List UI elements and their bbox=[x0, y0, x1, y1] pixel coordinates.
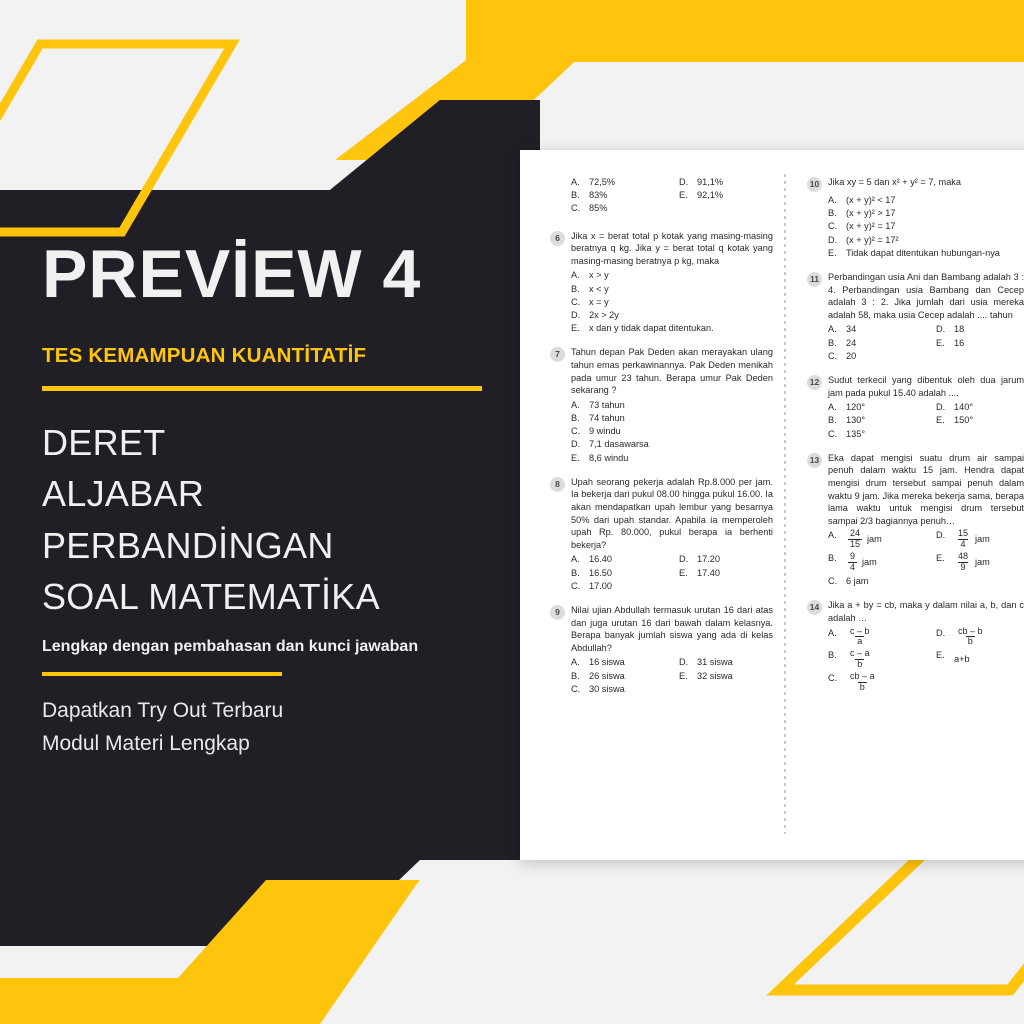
option: C.(x + y)² = 17 bbox=[828, 220, 1024, 233]
option-letter: A. bbox=[571, 399, 583, 412]
option-text: cb – ab bbox=[846, 672, 879, 692]
document-right-column: 10Jika xy = 5 dan x² + y² = 7, makaA.(x … bbox=[787, 176, 1024, 860]
option: A.2415jam bbox=[828, 529, 936, 549]
option-letter: D. bbox=[571, 309, 583, 322]
question-number-badge: 11 bbox=[807, 272, 822, 287]
fraction-numerator: 9 bbox=[848, 552, 857, 561]
option-text: 85% bbox=[589, 202, 607, 215]
option-text: 150° bbox=[954, 414, 973, 427]
option-label: 17.00 bbox=[589, 580, 612, 593]
option-unit: jam bbox=[975, 533, 990, 546]
option-unit: jam bbox=[867, 533, 882, 546]
option-row: C.cb – ab bbox=[828, 672, 1024, 692]
options-list: A.(x + y)² < 17B.(x + y)² > 17C.(x + y)²… bbox=[807, 194, 1024, 260]
fraction-numerator: c – b bbox=[848, 627, 872, 636]
option-text: 489jam bbox=[954, 552, 990, 572]
option: B.c – ab bbox=[828, 649, 936, 669]
yellow-band-bottom-left-2 bbox=[0, 882, 418, 1024]
option-text: 17.00 bbox=[589, 580, 612, 593]
question: 6Jika x = berat total p kotak yang masin… bbox=[550, 230, 773, 336]
options-list: A.120°D.140°B.130°E.150°C.135° bbox=[807, 401, 1024, 441]
option-text: 30 siswa bbox=[589, 683, 625, 696]
option-letter: E. bbox=[571, 452, 583, 465]
option bbox=[936, 428, 1024, 441]
option: E.32 siswa bbox=[679, 670, 773, 683]
option: C.30 siswa bbox=[571, 683, 679, 696]
option-label: 16.40 bbox=[589, 553, 612, 566]
options-list: A.c – baD.cb – bbB.c – abE.a+bC.cb – ab bbox=[807, 627, 1024, 693]
question: 9Nilai ujian Abdullah termasuk urutan 16… bbox=[550, 604, 773, 696]
option-text: c – ab bbox=[846, 649, 874, 669]
option-letter: E. bbox=[571, 322, 583, 335]
option-letter: B. bbox=[571, 412, 583, 425]
option-text: a+b bbox=[954, 649, 970, 669]
options-list: A.16 siswaD.31 siswaB.26 siswaE.32 siswa… bbox=[550, 656, 773, 696]
fraction-denominator: 9 bbox=[958, 562, 967, 572]
option-letter bbox=[936, 428, 948, 441]
question-number-badge: 6 bbox=[550, 231, 565, 246]
option-unit: jam bbox=[975, 556, 990, 569]
question-text: Tahun depan Pak Deden akan merayakan ula… bbox=[571, 346, 773, 396]
question-header: 12Sudut terkecil yang dibentuk oleh dua … bbox=[807, 374, 1024, 399]
option-row: D.(x + y)² = 17² bbox=[828, 234, 1024, 247]
page-title: PREVİEW 4 bbox=[42, 240, 512, 308]
yellow-band-top-right-2 bbox=[466, 0, 1024, 100]
option-label: x = y bbox=[589, 296, 609, 309]
yellow-outline-parallelogram-top-left bbox=[0, 44, 232, 232]
option-letter: A. bbox=[828, 323, 840, 336]
option: D.7,1 dasawarsa bbox=[571, 438, 773, 451]
option-text: Tidak dapat ditentukan hubungan-nya bbox=[846, 247, 1000, 260]
option-letter: C. bbox=[828, 220, 840, 233]
option: C.135° bbox=[828, 428, 936, 441]
option-label: x dan y tidak dapat ditentukan. bbox=[589, 322, 714, 335]
fraction: 2415 bbox=[848, 529, 862, 549]
fraction: c – ab bbox=[848, 649, 872, 669]
option-label: 31 siswa bbox=[697, 656, 733, 669]
option-row: B.(x + y)² > 17 bbox=[828, 207, 1024, 220]
question-header: 13Eka dapat mengisi suatu drum air sampa… bbox=[807, 452, 1024, 528]
option: E.489jam bbox=[936, 552, 1024, 572]
option-text: 7,1 dasawarsa bbox=[589, 438, 649, 451]
option-label: 8,6 windu bbox=[589, 452, 628, 465]
option: D.2x > 2y bbox=[571, 309, 773, 322]
fraction-numerator: 15 bbox=[956, 529, 970, 538]
option: A.73 tahun bbox=[571, 399, 773, 412]
options-list: A.x > yB.x < yC.x = yD.2x > 2yE.x dan y … bbox=[550, 269, 773, 335]
option-letter: A. bbox=[571, 176, 583, 189]
option: C.cb – ab bbox=[828, 672, 1024, 692]
option-text: 17.40 bbox=[697, 567, 720, 580]
option-label: 140° bbox=[954, 401, 973, 414]
option-label: 34 bbox=[846, 323, 856, 336]
option-letter: B. bbox=[571, 670, 583, 683]
option: B.x < y bbox=[571, 283, 773, 296]
option-text: 83% bbox=[589, 189, 607, 202]
option-label: x > y bbox=[589, 269, 609, 282]
topic-item: DERET bbox=[42, 417, 512, 468]
question-header: 8Upah seorang pekerja adalah Rp.8.000 pe… bbox=[550, 476, 773, 552]
dark-wedge-top bbox=[330, 100, 540, 190]
question: 11Perbandingan usia Ani dan Bambang adal… bbox=[807, 271, 1024, 363]
fraction-numerator: c – a bbox=[848, 649, 872, 658]
fraction: cb – bb bbox=[956, 627, 985, 647]
option-label: 26 siswa bbox=[589, 670, 625, 683]
option-text: 72,5% bbox=[589, 176, 615, 189]
option-letter: D. bbox=[828, 234, 840, 247]
option-letter bbox=[679, 683, 691, 696]
option-letter: D. bbox=[936, 627, 948, 647]
option-letter: B. bbox=[828, 337, 840, 350]
option-text: 135° bbox=[846, 428, 865, 441]
option-label: 17.40 bbox=[697, 567, 720, 580]
option: D.140° bbox=[936, 401, 1024, 414]
options-list: A.2415jamD.154jamB.94jamE.489jamC.6 jam bbox=[807, 529, 1024, 588]
option-label: (x + y)² > 17 bbox=[846, 207, 896, 220]
option-text: 2x > 2y bbox=[589, 309, 619, 322]
question-text: Upah seorang pekerja adalah Rp.8.000 per… bbox=[571, 476, 773, 552]
option-letter bbox=[936, 350, 948, 363]
option-letter: C. bbox=[571, 683, 583, 696]
option: E.150° bbox=[936, 414, 1024, 427]
option-label: 9 windu bbox=[589, 425, 621, 438]
option-text: c – ba bbox=[846, 627, 874, 647]
option-text: 24 bbox=[846, 337, 856, 350]
option-letter: A. bbox=[571, 656, 583, 669]
option: A.(x + y)² < 17 bbox=[828, 194, 1024, 207]
question-number-badge: 12 bbox=[807, 375, 822, 390]
option-label: 16.50 bbox=[589, 567, 612, 580]
fraction-denominator: 15 bbox=[848, 539, 862, 549]
option-letter: D. bbox=[936, 323, 948, 336]
option-label: Tidak dapat ditentukan hubungan-nya bbox=[846, 247, 1000, 260]
question-header: 6Jika x = berat total p kotak yang masin… bbox=[550, 230, 773, 268]
option-row: C.135° bbox=[828, 428, 1024, 441]
option-label: (x + y)² < 17 bbox=[846, 194, 896, 207]
option: A.16 siswa bbox=[571, 656, 679, 669]
fraction-denominator: a bbox=[855, 636, 864, 646]
option-label: 73 tahun bbox=[589, 399, 625, 412]
fraction: c – ba bbox=[848, 627, 872, 647]
option-unit: 6 jam bbox=[846, 575, 868, 588]
question-text: Jika a + by = cb, maka y dalam nilai a, … bbox=[828, 599, 1024, 624]
option-row: B.c – abE.a+b bbox=[828, 649, 1024, 669]
option-letter: B. bbox=[571, 283, 583, 296]
fraction: 154 bbox=[956, 529, 970, 549]
option-row: B.26 siswaE.32 siswa bbox=[571, 670, 773, 683]
option-letter bbox=[679, 580, 691, 593]
option: A.16.40 bbox=[571, 553, 679, 566]
option-letter: B. bbox=[828, 414, 840, 427]
question: 8Upah seorang pekerja adalah Rp.8.000 pe… bbox=[550, 476, 773, 593]
poster-subtitle: TES KEMAMPUAN KUANTİTATİF bbox=[42, 344, 512, 368]
fraction-denominator: 4 bbox=[958, 539, 967, 549]
option-text: 73 tahun bbox=[589, 399, 625, 412]
option-letter: E. bbox=[828, 247, 840, 260]
question-text: Perbandingan usia Ani dan Bambang adalah… bbox=[828, 271, 1024, 321]
question: 7Tahun depan Pak Deden akan merayakan ul… bbox=[550, 346, 773, 464]
option-row: B.130°E.150° bbox=[828, 414, 1024, 427]
poster-tagline: Lengkap dengan pembahasan dan kunci jawa… bbox=[42, 635, 442, 658]
option: E.8,6 windu bbox=[571, 452, 773, 465]
option-row: A.2415jamD.154jam bbox=[828, 529, 1024, 549]
option-text: 26 siswa bbox=[589, 670, 625, 683]
options-list: A.34D.18B.24E.16C.20 bbox=[807, 323, 1024, 363]
option bbox=[936, 350, 1024, 363]
poster-text-block: PREVİEW 4 TES KEMAMPUAN KUANTİTATİF DERE… bbox=[42, 240, 512, 760]
question: 14Jika a + by = cb, maka y dalam nilai a… bbox=[807, 599, 1024, 692]
option-letter: A. bbox=[571, 269, 583, 282]
question-number-badge: 13 bbox=[807, 453, 822, 468]
question-text: Jika xy = 5 dan x² + y² = 7, maka bbox=[828, 176, 1024, 189]
question-number-badge: 10 bbox=[807, 177, 822, 192]
option bbox=[679, 683, 773, 696]
option-row: B.16.50E.17.40 bbox=[571, 567, 773, 580]
option-letter: B. bbox=[828, 207, 840, 220]
option-label: 130° bbox=[846, 414, 865, 427]
option-label: 150° bbox=[954, 414, 973, 427]
option-text: 74 tahun bbox=[589, 412, 625, 425]
option-text: cb – bb bbox=[954, 627, 987, 647]
option-letter: C. bbox=[828, 575, 840, 588]
option-letter: E. bbox=[679, 567, 691, 580]
option-row: C.x = y bbox=[571, 296, 773, 309]
option: A.120° bbox=[828, 401, 936, 414]
option-row: C.17.00 bbox=[571, 580, 773, 593]
option-letter: C. bbox=[828, 672, 840, 692]
option-letter: C. bbox=[571, 202, 583, 215]
option-label: 135° bbox=[846, 428, 865, 441]
fraction: 94 bbox=[848, 552, 857, 572]
option: B.94jam bbox=[828, 552, 936, 572]
option-row: C.85% bbox=[571, 202, 773, 215]
option-label: 16 siswa bbox=[589, 656, 625, 669]
question-header: 7Tahun depan Pak Deden akan merayakan ul… bbox=[550, 346, 773, 396]
fraction-denominator: b bbox=[858, 682, 867, 692]
option-label: 17.20 bbox=[697, 553, 720, 566]
option-letter: B. bbox=[571, 567, 583, 580]
question: 12Sudut terkecil yang dibentuk oleh dua … bbox=[807, 374, 1024, 441]
option-letter: B. bbox=[828, 649, 840, 669]
question-header: 14Jika a + by = cb, maka y dalam nilai a… bbox=[807, 599, 1024, 624]
option-row: A.34D.18 bbox=[828, 323, 1024, 336]
option-text: 140° bbox=[954, 401, 973, 414]
option-text: 8,6 windu bbox=[589, 452, 628, 465]
orphan-options-block: A.72,5% D.91,1% B.83% E.92,1% C.85% bbox=[550, 176, 773, 216]
option-row: B.83% E.92,1% bbox=[571, 189, 773, 202]
option-label: 20 bbox=[846, 350, 856, 363]
option-letter: B. bbox=[828, 552, 840, 572]
document-left-column: A.72,5% D.91,1% B.83% E.92,1% C.85% 6Jik… bbox=[550, 176, 787, 860]
option-row: E.8,6 windu bbox=[571, 452, 773, 465]
option-letter: D. bbox=[679, 553, 691, 566]
option-row: B.x < y bbox=[571, 283, 773, 296]
option-letter: A. bbox=[828, 194, 840, 207]
left-questions-container: 6Jika x = berat total p kotak yang masin… bbox=[550, 230, 773, 696]
option-row: B.74 tahun bbox=[571, 412, 773, 425]
option-row: A.120°D.140° bbox=[828, 401, 1024, 414]
option-text: 34 bbox=[846, 323, 856, 336]
fraction-numerator: 48 bbox=[956, 552, 970, 561]
option-letter: E. bbox=[936, 552, 948, 572]
option: E.92,1% bbox=[679, 189, 773, 202]
option-letter: C. bbox=[828, 428, 840, 441]
fraction-denominator: b bbox=[855, 659, 864, 669]
option: B.83% bbox=[571, 189, 679, 202]
option-text: 154jam bbox=[954, 529, 990, 549]
option-label: 18 bbox=[954, 323, 964, 336]
option-row: C.30 siswa bbox=[571, 683, 773, 696]
option-letter: E. bbox=[679, 189, 691, 202]
option: D.91,1% bbox=[679, 176, 773, 189]
option-label: 74 tahun bbox=[589, 412, 625, 425]
option: A.x > y bbox=[571, 269, 773, 282]
yellow-band-bottom-left bbox=[0, 880, 420, 1024]
option-letter: A. bbox=[571, 553, 583, 566]
question-number-badge: 9 bbox=[550, 605, 565, 620]
option-text: (x + y)² = 17² bbox=[846, 234, 899, 247]
option: C.9 windu bbox=[571, 425, 773, 438]
option: B.(x + y)² > 17 bbox=[828, 207, 1024, 220]
option: D.cb – bb bbox=[936, 627, 1024, 647]
fraction-numerator: 24 bbox=[848, 529, 862, 538]
option-text: 9 windu bbox=[589, 425, 621, 438]
option-label: 16 bbox=[954, 337, 964, 350]
option-letter: A. bbox=[828, 627, 840, 647]
option-letter: D. bbox=[936, 529, 948, 549]
option-label: 24 bbox=[846, 337, 856, 350]
option: A.34 bbox=[828, 323, 936, 336]
option-label: (x + y)² = 17² bbox=[846, 234, 899, 247]
option-label: 120° bbox=[846, 401, 865, 414]
option-row: D.7,1 dasawarsa bbox=[571, 438, 773, 451]
option-row: C.9 windu bbox=[571, 425, 773, 438]
topic-item: ALJABAR bbox=[42, 468, 512, 519]
option-label: 2x > 2y bbox=[589, 309, 619, 322]
option-row: D.2x > 2y bbox=[571, 309, 773, 322]
divider-short bbox=[42, 672, 282, 676]
option: E.17.40 bbox=[679, 567, 773, 580]
question: 13Eka dapat mengisi suatu drum air sampa… bbox=[807, 452, 1024, 589]
option-text: 20 bbox=[846, 350, 856, 363]
poster-canvas: A.72,5% D.91,1% B.83% E.92,1% C.85% 6Jik… bbox=[0, 0, 1024, 1024]
option-label: (x + y)² = 17 bbox=[846, 220, 896, 233]
option-text: (x + y)² > 17 bbox=[846, 207, 896, 220]
option-text: x dan y tidak dapat ditentukan. bbox=[589, 322, 714, 335]
option: B.16.50 bbox=[571, 567, 679, 580]
fraction: 489 bbox=[956, 552, 970, 572]
option-text: 130° bbox=[846, 414, 865, 427]
option: A.72,5% bbox=[571, 176, 679, 189]
option-row: C.(x + y)² = 17 bbox=[828, 220, 1024, 233]
option-unit: a+b bbox=[954, 653, 970, 666]
option-row: A.x > y bbox=[571, 269, 773, 282]
option: E.Tidak dapat ditentukan hubungan-nya bbox=[828, 247, 1024, 260]
question-text: Sudut terkecil yang dibentuk oleh dua ja… bbox=[828, 374, 1024, 399]
yellow-band-top-right bbox=[335, 0, 1024, 160]
question: 10Jika xy = 5 dan x² + y² = 7, makaA.(x … bbox=[807, 176, 1024, 260]
option-text: 18 bbox=[954, 323, 964, 336]
option-label: 32 siswa bbox=[697, 670, 733, 683]
option-text: 6 jam bbox=[846, 575, 868, 588]
option-row: E.Tidak dapat ditentukan hubungan-nya bbox=[828, 247, 1024, 260]
option-label: x < y bbox=[589, 283, 609, 296]
option-text: 16.40 bbox=[589, 553, 612, 566]
topic-item: SOAL MATEMATİKA bbox=[42, 571, 512, 622]
cta-line: Dapatkan Try Out Terbaru bbox=[42, 694, 512, 727]
dark-wedge-top-2 bbox=[355, 103, 540, 190]
option-text: 17.20 bbox=[697, 553, 720, 566]
fraction: cb – ab bbox=[848, 672, 877, 692]
option-row: A.c – baD.cb – bb bbox=[828, 627, 1024, 647]
option: D.154jam bbox=[936, 529, 1024, 549]
option-text: (x + y)² < 17 bbox=[846, 194, 896, 207]
option: D.(x + y)² = 17² bbox=[828, 234, 1024, 247]
option: E.x dan y tidak dapat ditentukan. bbox=[571, 322, 773, 335]
option-letter: D. bbox=[936, 401, 948, 414]
option-text: 16 bbox=[954, 337, 964, 350]
topic-list: DERET ALJABAR PERBANDİNGAN SOAL MATEMATİ… bbox=[42, 417, 512, 623]
option-letter: D. bbox=[571, 438, 583, 451]
option: D.18 bbox=[936, 323, 1024, 336]
option-label: 7,1 dasawarsa bbox=[589, 438, 649, 451]
question-header: 9Nilai ujian Abdullah termasuk urutan 16… bbox=[550, 604, 773, 654]
option-letter: D. bbox=[679, 176, 691, 189]
cta-line: Modul Materi Lengkap bbox=[42, 727, 512, 760]
question-number-badge: 7 bbox=[550, 347, 565, 362]
option-letter: B. bbox=[571, 189, 583, 202]
option-text: 16 siswa bbox=[589, 656, 625, 669]
option: C.17.00 bbox=[571, 580, 679, 593]
option-letter: E. bbox=[936, 414, 948, 427]
question-text: Nilai ujian Abdullah termasuk urutan 16 … bbox=[571, 604, 773, 654]
options-list: A.73 tahunB.74 tahunC.9 winduD.7,1 dasaw… bbox=[550, 399, 773, 465]
option: C.6 jam bbox=[828, 575, 1024, 588]
option: B.24 bbox=[828, 337, 936, 350]
option-letter: C. bbox=[571, 296, 583, 309]
option-row: C.20 bbox=[828, 350, 1024, 363]
topic-item: PERBANDİNGAN bbox=[42, 520, 512, 571]
option-row: B.24E.16 bbox=[828, 337, 1024, 350]
options-list: A.16.40D.17.20B.16.50E.17.40C.17.00 bbox=[550, 553, 773, 593]
option-text: 120° bbox=[846, 401, 865, 414]
option-letter: C. bbox=[571, 580, 583, 593]
question-number-badge: 14 bbox=[807, 600, 822, 615]
option: C.20 bbox=[828, 350, 936, 363]
option-unit: jam bbox=[862, 556, 877, 569]
option-letter: E. bbox=[936, 649, 948, 669]
option-text: x > y bbox=[589, 269, 609, 282]
option-letter: C. bbox=[571, 425, 583, 438]
option: D.31 siswa bbox=[679, 656, 773, 669]
option-letter: D. bbox=[679, 656, 691, 669]
right-questions-container: 10Jika xy = 5 dan x² + y² = 7, makaA.(x … bbox=[807, 176, 1024, 692]
option: E.16 bbox=[936, 337, 1024, 350]
option: D.17.20 bbox=[679, 553, 773, 566]
question-header: 10Jika xy = 5 dan x² + y² = 7, maka bbox=[807, 176, 1024, 192]
option: B.74 tahun bbox=[571, 412, 773, 425]
option-row: B.94jamE.489jam bbox=[828, 552, 1024, 572]
cta-block: Dapatkan Try Out Terbaru Modul Materi Le… bbox=[42, 694, 512, 760]
option-text: 32 siswa bbox=[697, 670, 733, 683]
option-label: 30 siswa bbox=[589, 683, 625, 696]
question-header: 11Perbandingan usia Ani dan Bambang adal… bbox=[807, 271, 1024, 321]
option-letter: C. bbox=[828, 350, 840, 363]
option: B.26 siswa bbox=[571, 670, 679, 683]
option-row: A.16.40D.17.20 bbox=[571, 553, 773, 566]
option-text: 92,1% bbox=[697, 189, 723, 202]
option-text: 91,1% bbox=[697, 176, 723, 189]
